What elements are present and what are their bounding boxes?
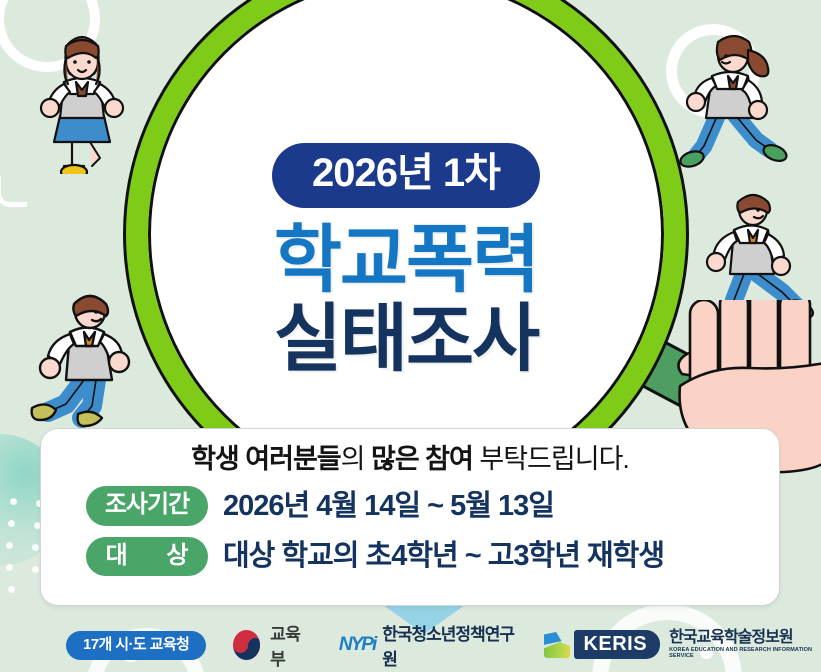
info-row-period: 조사기간 2026년 4월 14일 ~ 5월 13일: [41, 486, 779, 525]
period-tag: 조사기간: [86, 486, 208, 525]
nypi-label: 한국청소년정책연구원: [382, 620, 515, 670]
year-badge: 2026년 1차: [272, 143, 540, 207]
poster-title-line1: 학교폭력: [274, 222, 538, 297]
card-headline-bold-1: 학생 여러분들: [191, 444, 341, 474]
poster-root: 2026년 1차 학교폭력 실태조사 학생 여러분들의 많은 참여 부탁드립니다…: [0, 0, 821, 672]
info-row-target: 대 상 대상 학교의 초4학년 ~ 고3학년 재학생: [41, 537, 779, 576]
keris-label-en: KOREA EDUCATION AND RESEARCH INFORMATION…: [669, 648, 821, 660]
moe-label: 교육부: [270, 620, 311, 670]
info-card: 학생 여러분들의 많은 참여 부탁드립니다. 조사기간 2026년 4월 14일…: [40, 428, 780, 606]
keris-logo-group: KERIS 한국교육학술정보원 KOREA EDUCATION AND RESE…: [544, 630, 821, 659]
poster-title-line2: 실태조사: [274, 301, 538, 376]
keris-symbol-icon: [544, 632, 571, 658]
period-value: 2026년 4월 14일 ~ 5월 13일: [223, 491, 554, 521]
target-value: 대상 학교의 초4학년 ~ 고3학년 재학생: [223, 541, 664, 571]
footer-logo-bar: 17개 시·도 교육청 교육부 NYPi 한국청소년정책연구원 KERIS 한국…: [0, 618, 821, 672]
card-headline-light-2: 부탁드립니다.: [479, 444, 629, 474]
decorative-hook-icon: [0, 176, 27, 207]
target-tag: 대 상: [86, 537, 208, 576]
taeguk-icon: [232, 629, 261, 661]
card-headline-bold-2: 많은 참여: [371, 444, 473, 474]
keris-label-group: 한국교육학술정보원 KOREA EDUCATION AND RESEARCH I…: [669, 630, 821, 659]
nypi-mark-icon: NYPi: [339, 634, 375, 656]
nypi-logo-group: NYPi 한국청소년정책연구원: [339, 620, 516, 670]
keris-mark-label: KERIS: [574, 630, 660, 659]
card-headline-light-1: 의: [341, 444, 365, 474]
edu-office-badge-group: 17개 시·도 교육청: [66, 631, 206, 660]
keris-label-ko: 한국교육학술정보원: [669, 630, 821, 647]
card-headline: 학생 여러분들의 많은 참여 부탁드립니다.: [41, 443, 779, 475]
edu-office-badge: 17개 시·도 교육청: [66, 631, 206, 660]
student-girl-running-illustration: [678, 24, 796, 174]
moe-logo-group: 교육부: [206, 620, 311, 670]
